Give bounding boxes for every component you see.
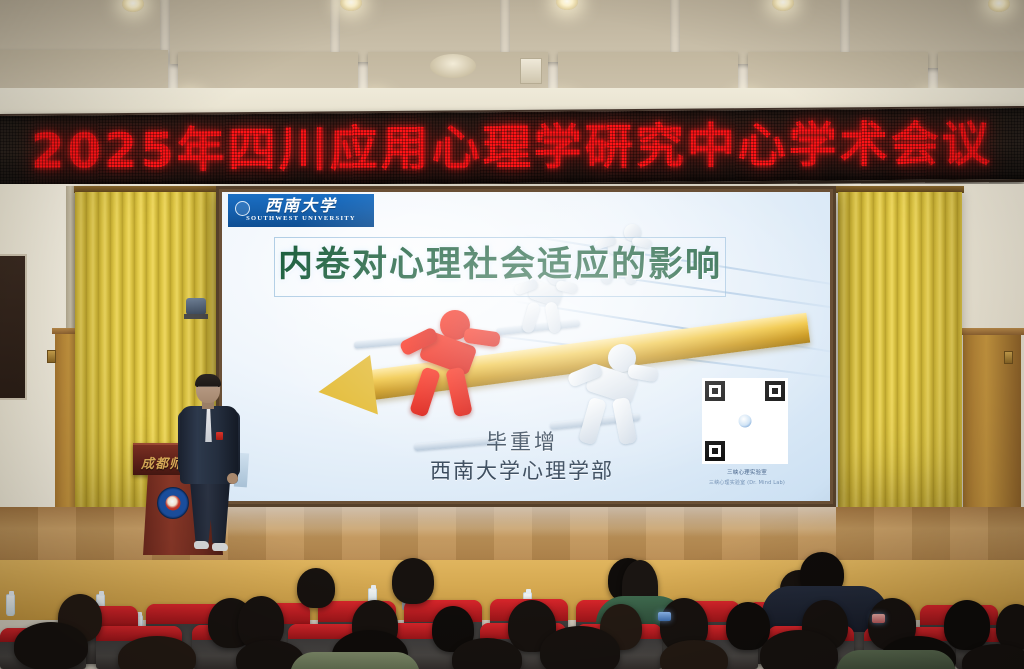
phone-screen xyxy=(658,612,671,621)
right-door-header xyxy=(960,328,1024,335)
speaker-glasses-icon xyxy=(198,386,218,390)
speaker-shoe-right xyxy=(212,543,228,551)
stage-curtain-right xyxy=(838,192,962,529)
audience-shoulders xyxy=(290,652,420,669)
speaker-person xyxy=(178,375,240,557)
university-logo-en: SOUTHWEST UNIVERSITY xyxy=(246,216,356,223)
speaker-shoe-left xyxy=(194,541,209,549)
stage-screen-reflection xyxy=(216,507,836,537)
left-door-plate xyxy=(47,350,56,363)
qr-eye-icon xyxy=(765,381,785,401)
audience-head-front xyxy=(540,626,620,669)
projection-screen: 西南大学 SOUTHWEST UNIVERSITY xyxy=(216,186,836,507)
ceiling-vent xyxy=(430,54,476,78)
led-banner-text: 2025年四川应用心理学研究中心学术会议 xyxy=(0,119,1024,175)
audience-head-front xyxy=(14,622,88,669)
speaker-legs xyxy=(190,481,230,543)
slide-title: 内卷对心理社会适应的影响 xyxy=(274,244,726,288)
audience-shoulders xyxy=(836,650,956,669)
wall-display-panel xyxy=(0,254,27,400)
presentation-slide: 西南大学 SOUTHWEST UNIVERSITY xyxy=(222,192,830,501)
qr-code-grid xyxy=(705,381,785,461)
southwest-university-logo: 西南大学 SOUTHWEST UNIVERSITY xyxy=(228,194,374,227)
slide-affiliation: 西南大学心理学部 xyxy=(372,455,672,485)
led-banner: 2025年四川应用心理学研究中心学术会议 xyxy=(0,106,1024,190)
qr-eye-icon xyxy=(705,441,725,461)
speaker-hand xyxy=(227,473,238,484)
qr-caption-en: 三峡心理实验室 (Dr. Mind Lab) xyxy=(692,479,802,486)
ceiling-projector-box xyxy=(520,58,542,84)
university-seal-icon xyxy=(235,201,250,216)
wall-speaker xyxy=(186,298,206,315)
qr-center-logo-icon xyxy=(737,413,754,430)
right-door-plate xyxy=(1004,351,1013,364)
university-logo-cn: 西南大学 xyxy=(265,198,337,214)
qr-eye-icon xyxy=(705,381,725,401)
water-bottle xyxy=(6,594,15,616)
audience-head xyxy=(297,568,335,608)
audience-head xyxy=(944,600,990,650)
slide-presenter-name: 毕重增 xyxy=(372,426,672,456)
wall-speaker-bracket xyxy=(184,314,208,319)
audience-head xyxy=(392,558,434,604)
conference-hall-scene: 2025年四川应用心理学研究中心学术会议 西南大学 SOUTHWEST UNIV… xyxy=(0,0,1024,669)
qr-caption-cn: 三峡心理实验室 xyxy=(692,468,802,476)
runner-figure-red xyxy=(404,310,500,420)
speaker-badge xyxy=(216,432,223,440)
qr-code[interactable] xyxy=(702,378,788,464)
phone-screen xyxy=(872,614,885,623)
